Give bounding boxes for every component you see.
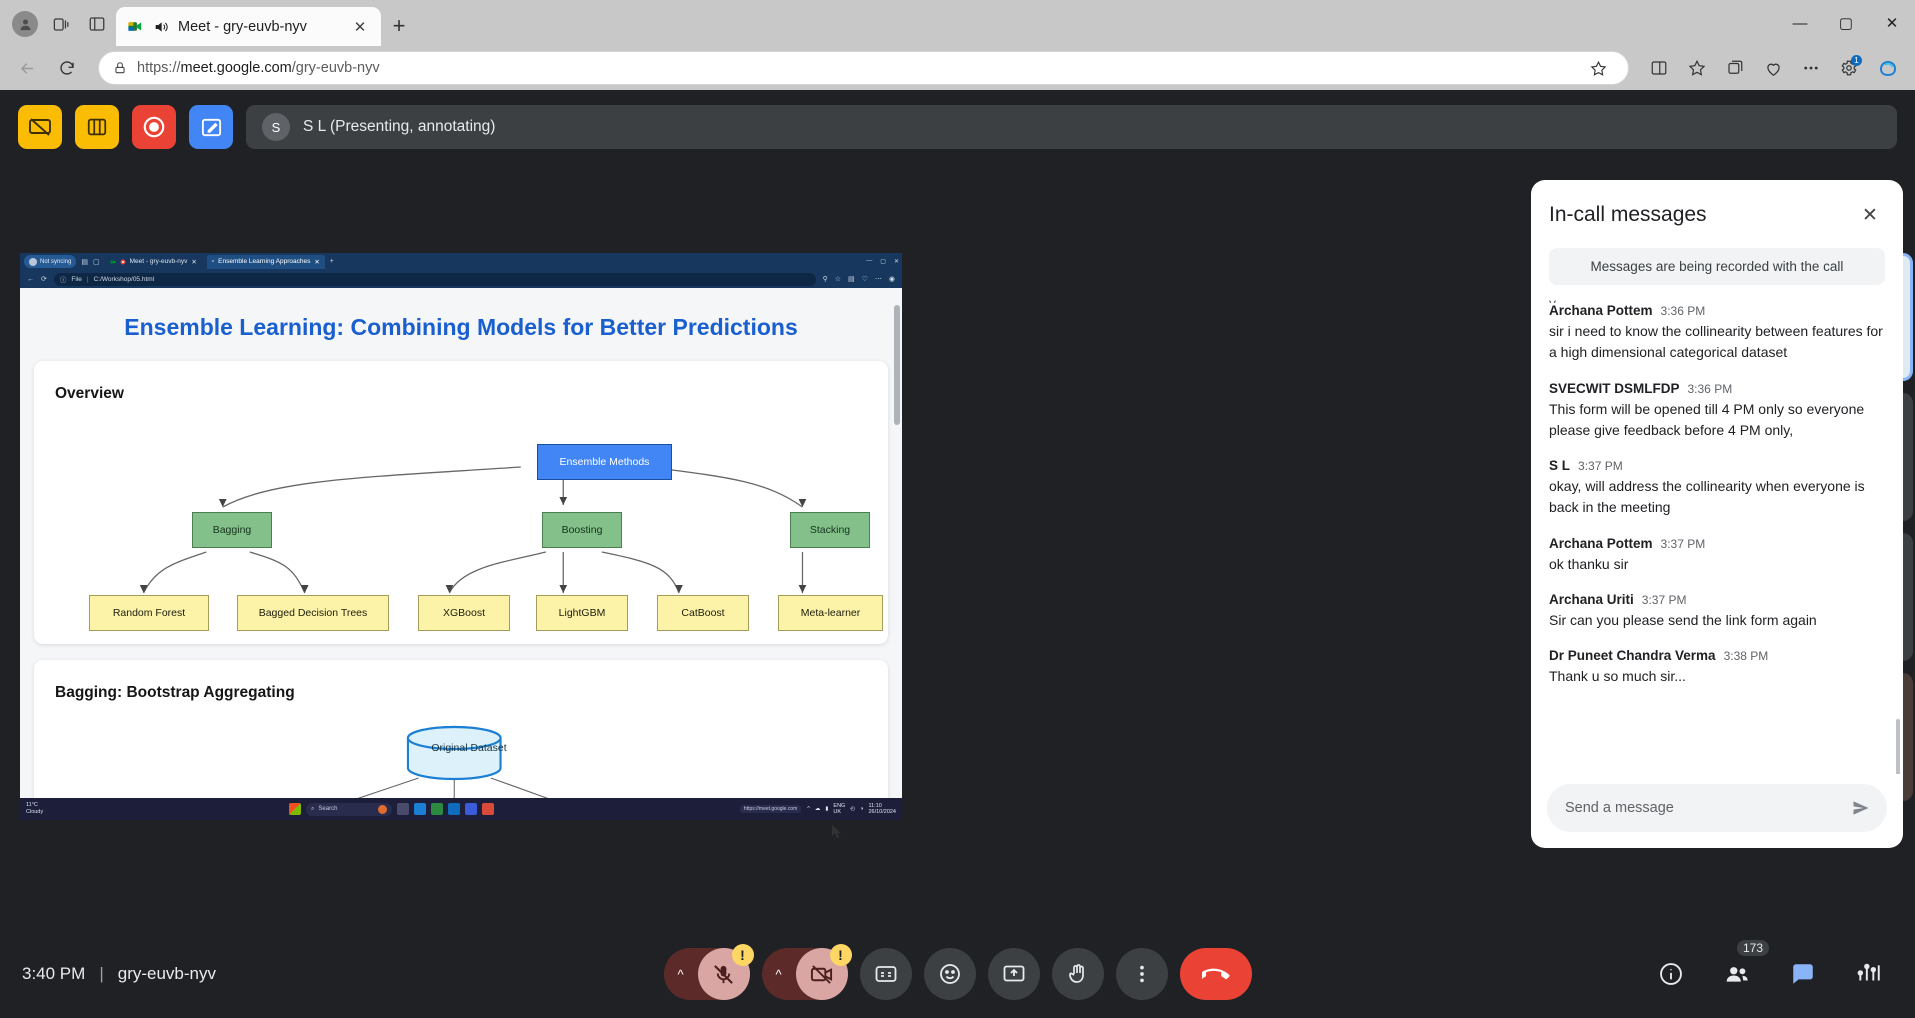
camera-warning-badge: ! (830, 944, 852, 966)
diagram-node-bagging: Bagging (192, 512, 272, 548)
shared-tab-groups-icon[interactable]: ▤ (81, 258, 88, 266)
tab-groups-icon[interactable] (44, 7, 78, 41)
collections-icon[interactable]: ▤ (848, 275, 855, 283)
start-icon[interactable] (289, 803, 301, 815)
section-heading: Overview (55, 385, 870, 403)
chat-message: Archana Uriti 3:37 PM Sir can you please… (1549, 592, 1885, 631)
slide-title: Ensemble Learning: Combining Models for … (34, 288, 888, 361)
chat-message-author: Archana Uriti (1549, 592, 1634, 607)
diagram-leaf-lightgbm: LightGBM (536, 595, 628, 631)
chat-message-time: 3:36 PM (1661, 304, 1706, 318)
shared-split-icon[interactable]: ▢ (93, 258, 100, 266)
chat-message-time: 3:37 PM (1578, 459, 1623, 473)
shared-tab-ensemble[interactable]: ▫ Ensemble Learning Approaches ✕ (207, 255, 325, 269)
pdf-icon[interactable] (482, 803, 494, 815)
leave-call-button[interactable] (1180, 948, 1252, 1000)
bagging-diagram: Original Dataset (52, 724, 870, 798)
chat-compose-box[interactable] (1547, 784, 1887, 832)
chat-button[interactable] (1779, 950, 1827, 998)
search-avatar-icon (378, 805, 387, 814)
chat-message: Archana Pottem 3:37 PM ok thanku sir (1549, 536, 1885, 575)
tray-up-icon[interactable]: ^ (807, 806, 810, 812)
browser-toolbar: https://meet.google.com/gry-euvb-nyv 1 (0, 46, 1915, 90)
browser-tab-meet[interactable]: Meet - gry-euvb-nyv ✕ (116, 7, 381, 46)
diagram-node-root: Ensemble Methods (537, 444, 672, 480)
shared-tab-label: Ensemble Learning Approaches (218, 258, 310, 265)
collections-icon[interactable] (1719, 52, 1751, 84)
weather-temp: 11°C (26, 802, 43, 809)
record-icon (120, 259, 126, 265)
chat-message: Archana Pottem 3:36 PM sir i need to kno… (1549, 303, 1885, 364)
raise-hand-button[interactable] (1052, 948, 1104, 1000)
chat-message-text: sir i need to know the collinearity betw… (1549, 321, 1885, 364)
window-maximize-button[interactable]: ▢ (1823, 0, 1869, 46)
diagram-leaf-random-forest: Random Forest (89, 595, 209, 631)
shared-tab-meet[interactable]: Meet - gry-euvb-nyv ✕ (105, 255, 202, 269)
lock-icon (113, 61, 127, 75)
shared-browser-tabstrip: Not syncing ▤ ▢ Meet - gry-euvb-nyv ✕ (20, 253, 902, 270)
recording-notice: Messages are being recorded with the cal… (1549, 248, 1885, 285)
chat-message-time: 3:37 PM (1661, 537, 1706, 551)
shared-browser-window: Not syncing ▤ ▢ Meet - gry-euvb-nyv ✕ (20, 253, 902, 820)
tray-sound-icon[interactable]: ◑ (860, 806, 863, 812)
reload-icon[interactable] (50, 51, 84, 85)
shared-address-path: C:/Workshop/05.html (94, 276, 155, 283)
taskbar-search[interactable]: ⌕ Search (306, 803, 392, 816)
copilot-icon[interactable]: ◉ (889, 275, 895, 283)
window-close-button[interactable]: ✕ (1869, 0, 1915, 46)
settings-badge: 1 (1851, 55, 1862, 66)
window-controls: — ▢ ✕ (1777, 0, 1915, 46)
tray-wifi-icon[interactable]: ◴ (850, 806, 855, 812)
chat-message-author: Archana Pottem (1549, 303, 1653, 318)
chat-scrollbar[interactable] (1896, 719, 1900, 774)
bagging-connectors (52, 724, 870, 798)
window-minimize-button[interactable]: — (866, 258, 872, 265)
address-bar-url: https://meet.google.com/gry-euvb-nyv (137, 60, 1572, 76)
presenter-avatar: S (262, 113, 290, 141)
address-bar[interactable]: https://meet.google.com/gry-euvb-nyv (98, 51, 1629, 85)
excel-icon[interactable] (431, 803, 443, 815)
tray-cloud-icon[interactable]: ☁ (815, 806, 821, 812)
settings-gear-icon[interactable]: 1 (1833, 52, 1865, 84)
meeting-clock: 3:40 PM (22, 964, 85, 984)
speaker-icon[interactable] (152, 18, 170, 36)
record-icon[interactable] (132, 105, 176, 149)
shared-screen[interactable]: Not syncing ▤ ▢ Meet - gry-euvb-nyv ✕ (20, 253, 902, 820)
shared-profile-label: Not syncing (40, 259, 71, 265)
diagram-leaf-catboost: CatBoost (657, 595, 749, 631)
people-button[interactable]: 173 (1713, 950, 1761, 998)
chat-message-author: SVECWIT DSMLFDP (1549, 381, 1680, 396)
chat-message-time: 3:36 PM (1688, 382, 1733, 396)
chat-compose-area (1531, 774, 1903, 848)
separator: | (99, 964, 103, 984)
window-maximize-button[interactable]: ▢ (880, 258, 886, 265)
avatar (29, 258, 37, 266)
meeting-info: 3:40 PM | gry-euvb-nyv (22, 964, 442, 984)
chat-message-time: 3:38 PM (1724, 649, 1769, 663)
teams-icon[interactable] (465, 803, 477, 815)
diagram-leaf-xgboost: XGBoost (418, 595, 510, 631)
window-close-button[interactable]: ✕ (894, 258, 899, 265)
close-icon[interactable]: ✕ (314, 258, 319, 266)
chat-message-header: SVECWIT DSMLFDP 3:36 PM (1549, 381, 1885, 396)
meeting-details-button[interactable] (1647, 950, 1695, 998)
weather-desc: Cloudy (26, 809, 43, 816)
captions-button[interactable] (860, 948, 912, 1000)
new-tab-button[interactable]: + (383, 10, 415, 42)
shared-page-scrollbar[interactable] (894, 305, 900, 425)
stop-presenting-icon[interactable] (18, 105, 62, 149)
browser-tab-title: Meet - gry-euvb-nyv (178, 19, 341, 35)
presenter-status-text: S L (Presenting, annotating) (303, 118, 495, 136)
google-meet-icon (126, 18, 144, 36)
browser-tabstrip: Meet - gry-euvb-nyv ✕ + — ▢ ✕ (0, 0, 1915, 46)
clipped-previous-message: y (1549, 295, 1885, 303)
presentation-toolbar: S S L (Presenting, annotating) (0, 90, 1915, 149)
search-placeholder: Search (318, 806, 337, 812)
chat-message-text: okay, will address the collinearity when… (1549, 476, 1885, 519)
browser-chrome: Meet - gry-euvb-nyv ✕ + — ▢ ✕ https://me… (0, 0, 1915, 90)
copilot-icon[interactable] (1871, 51, 1905, 85)
shared-page-content: Ensemble Learning: Combining Models for … (20, 288, 902, 798)
chat-message-header: Dr Puneet Chandra Verma 3:38 PM (1549, 648, 1885, 663)
in-call-messages-panel: In-call messages ✕ Messages are being re… (1531, 180, 1903, 848)
more-settings-icon[interactable]: ⋯ (875, 275, 882, 283)
slide-section-overview: Overview (34, 361, 888, 644)
chat-message-time: 3:37 PM (1642, 593, 1687, 607)
close-icon[interactable]: ✕ (349, 16, 371, 38)
taskbar-clock[interactable]: 11:1026/10/2024 (868, 803, 896, 815)
people-count-badge: 173 (1737, 940, 1769, 956)
back-icon[interactable] (10, 51, 44, 85)
shared-new-tab-button[interactable]: + (330, 258, 334, 265)
chat-message-author: Archana Pottem (1549, 536, 1653, 551)
meeting-code: gry-euvb-nyv (118, 964, 216, 984)
chat-message-list[interactable]: y Archana Pottem 3:36 PM sir i need to k… (1531, 289, 1903, 774)
presentation-layout-icon[interactable] (75, 105, 119, 149)
chat-message-header: Archana Uriti 3:37 PM (1549, 592, 1885, 607)
chat-message: SVECWIT DSMLFDP 3:36 PM This form will b… (1549, 381, 1885, 442)
reload-icon[interactable]: ⟳ (41, 275, 47, 283)
chat-message-author: S L (1549, 458, 1570, 473)
tray-battery-icon[interactable]: ▮ (825, 806, 828, 812)
shared-address-scheme: File (71, 276, 81, 283)
taskbar-weather[interactable]: 11°C Cloudy (26, 802, 43, 816)
more-settings-icon[interactable] (1795, 52, 1827, 84)
favorites-icon[interactable]: ♡ (862, 275, 868, 283)
section-heading: Bagging: Bootstrap Aggregating (55, 684, 870, 702)
annotate-icon[interactable] (189, 105, 233, 149)
info-icon: ⓘ (60, 274, 67, 284)
chat-message-author: Dr Puneet Chandra Verma (1549, 648, 1716, 663)
send-icon[interactable] (1843, 790, 1879, 826)
chat-panel-title: In-call messages (1549, 203, 1855, 227)
window-minimize-button[interactable]: — (1777, 0, 1823, 46)
diagram-connectors (52, 407, 870, 622)
emoji-button[interactable] (924, 948, 976, 1000)
taskbar-meet-pill[interactable]: https://meet.google.com (740, 805, 801, 813)
present-now-button[interactable] (988, 948, 1040, 1000)
profile-button[interactable] (8, 7, 42, 41)
split-screen-toolbar-icon[interactable] (1643, 52, 1675, 84)
taskbar-tray: ^ ☁ ▮ ENGUK ◴ ◑ 11:1026/10/2024 (807, 803, 896, 815)
bookmark-star-icon[interactable] (1582, 52, 1614, 84)
camera-toggle-button[interactable]: ^ ! (762, 948, 848, 1000)
chevron-up-icon[interactable]: ^ (762, 967, 796, 982)
avatar (12, 11, 38, 37)
chat-message-header: Archana Pottem 3:36 PM (1549, 303, 1885, 318)
google-meet-app: S S L (Presenting, annotating) Not synci… (0, 90, 1915, 1018)
presenter-status-bar: S S L (Presenting, annotating) (246, 105, 1897, 149)
mouse-cursor (832, 825, 836, 832)
google-meet-icon (110, 259, 116, 265)
windows-taskbar: 11°C Cloudy ⌕ Search (20, 798, 902, 820)
search-icon: ⌕ (311, 806, 314, 813)
chat-message: S L 3:37 PM okay, will address the colli… (1549, 458, 1885, 519)
dataset-node-label: Original Dataset (421, 742, 517, 754)
shared-browser-toolbar: ← ⟳ ⓘ File | C:/Workshop/05.html ⚲ ☆ ▤ ♡… (20, 270, 902, 288)
close-icon[interactable]: ✕ (191, 258, 196, 266)
meet-bottom-bar: 3:40 PM | gry-euvb-nyv ^ ! ^ ! (0, 930, 1915, 1018)
favorites-icon[interactable] (1681, 52, 1713, 84)
shared-tab-label: Meet - gry-euvb-nyv (130, 258, 188, 265)
diagram-leaf-bagged-decision-trees: Bagged Decision Trees (237, 595, 389, 631)
chat-message-text: ok thanku sir (1549, 554, 1885, 575)
chat-message-text: This form will be opened till 4 PM only … (1549, 399, 1885, 442)
more-options-button[interactable] (1116, 948, 1168, 1000)
shared-address-bar[interactable]: ⓘ File | C:/Workshop/05.html (54, 273, 816, 286)
close-icon[interactable]: ✕ (1855, 200, 1885, 230)
chat-message: Dr Puneet Chandra Verma 3:38 PM Thank u … (1549, 648, 1885, 687)
chat-message-input[interactable] (1565, 800, 1843, 816)
chat-message-header: Archana Pottem 3:37 PM (1549, 536, 1885, 551)
shared-profile-chip[interactable]: Not syncing (24, 255, 76, 268)
chat-message-text: Sir can you please send the link form ag… (1549, 610, 1885, 631)
back-icon[interactable]: ← (27, 276, 34, 283)
activities-button[interactable] (1845, 950, 1893, 998)
meet-right-controls: 173 (1473, 950, 1893, 998)
slide-section-bagging: Bagging: Bootstrap Aggregating Original (34, 660, 888, 798)
explorer-icon[interactable] (414, 803, 426, 815)
page-icon: ▫ (212, 258, 214, 265)
taskview-icon[interactable] (397, 803, 409, 815)
mic-toggle-button[interactable]: ^ ! (664, 948, 750, 1000)
edge-icon[interactable] (448, 803, 460, 815)
diagram-leaf-meta-learner: Meta-learner (778, 595, 883, 631)
diagram-node-stacking: Stacking (790, 512, 870, 548)
zoom-icon[interactable]: ⚲ (823, 275, 828, 283)
shared-window-controls: — ▢ ✕ (866, 258, 899, 265)
chat-message-header: S L 3:37 PM (1549, 458, 1885, 473)
bookmark-star-icon[interactable]: ☆ (835, 275, 841, 283)
browser-essentials-icon[interactable] (1757, 52, 1789, 84)
ensemble-diagram: Ensemble Methods Bagging Boosting Stacki… (52, 407, 870, 622)
call-controls: ^ ! ^ ! (442, 948, 1473, 1000)
chevron-up-icon[interactable]: ^ (664, 967, 698, 982)
chat-header: In-call messages ✕ (1531, 180, 1903, 240)
diagram-node-boosting: Boosting (542, 512, 622, 548)
split-screen-icon[interactable] (80, 7, 114, 41)
chat-message-text: Thank u so much sir... (1549, 666, 1885, 687)
taskbar-language[interactable]: ENGUK (833, 803, 845, 815)
taskbar-center: ⌕ Search (49, 803, 734, 816)
mic-warning-badge: ! (732, 944, 754, 966)
